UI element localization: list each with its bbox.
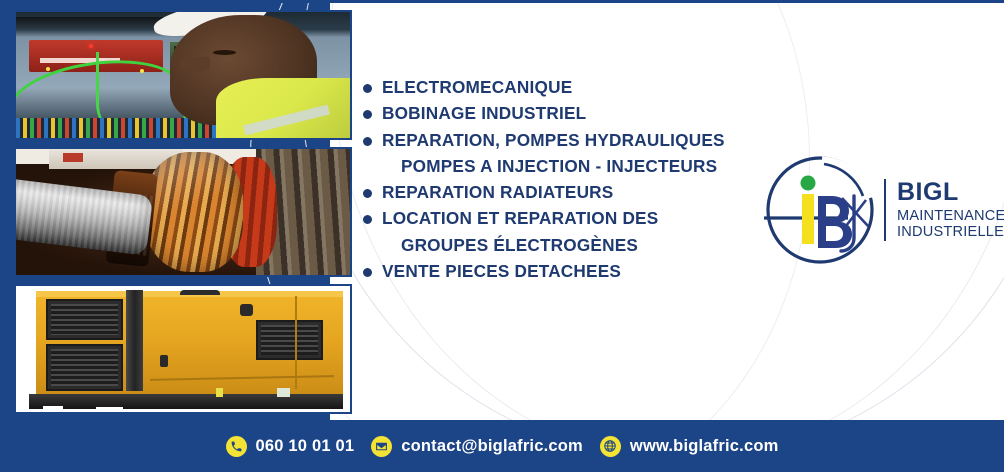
brand-text: BIGL MAINTENANCE INDUSTRIELLE [897,180,1004,241]
generator-set-photo [14,284,352,414]
service-item: ELECTROMECANIQUE [363,78,763,97]
service-item: LOCATION ET REPARATION DES [363,209,763,228]
bigl-circle-monogram-logo [762,152,878,268]
services-list: ELECTROMECANIQUE BOBINAGE INDUSTRIEL REP… [363,78,763,288]
electrical-panel-photo [14,10,352,140]
contact-email[interactable]: contact@biglafric.com [371,436,583,457]
website-url: www.biglafric.com [630,437,779,456]
service-item: VENTE PIECES DETACHEES [363,262,763,281]
service-label: REPARATION, POMPES HYDRAULIQUES [382,131,725,150]
contact-website[interactable]: www.biglafric.com [600,436,779,457]
bullet-icon [363,110,372,119]
bullet-icon [363,268,372,277]
phone-icon [226,436,247,457]
brand-tagline-line2: INDUSTRIELLE [897,224,1004,240]
photo-gallery [14,10,352,414]
service-item: BOBINAGE INDUSTRIEL [363,104,763,123]
contact-phone[interactable]: 060 10 01 01 [226,436,355,457]
brand-name: BIGL [897,180,1004,205]
top-edge-strip [0,0,1004,3]
brand-tagline-line1: MAINTENANCE [897,208,1004,224]
contact-bar: 060 10 01 01 contact@biglafric.com [0,420,1004,472]
bullet-icon [363,189,372,198]
service-label: VENTE PIECES DETACHEES [382,262,621,281]
service-item: REPARATION RADIATEURS [363,183,763,202]
service-label: REPARATION RADIATEURS [382,183,613,202]
advertisement-banner: ELECTROMECANIQUE BOBINAGE INDUSTRIEL REP… [0,0,1004,472]
bullet-icon [363,84,372,93]
phone-number: 060 10 01 01 [256,437,355,456]
service-label: ELECTROMECANIQUE [382,78,572,97]
logo-divider [884,179,886,241]
envelope-icon [371,436,392,457]
service-label: LOCATION ET REPARATION DES [382,209,658,228]
service-item: REPARATION, POMPES HYDRAULIQUES [363,131,763,150]
service-label-continuation: POMPES A INJECTION - INJECTEURS [363,157,763,176]
service-label-continuation: GROUPES ÉLECTROGÈNES [363,236,763,255]
globe-icon [600,436,621,457]
service-label: BOBINAGE INDUSTRIEL [382,104,586,123]
brand-logo: BIGL MAINTENANCE INDUSTRIELLE [762,152,1004,268]
motor-winding-photo [14,147,352,277]
bullet-icon [363,137,372,146]
email-address: contact@biglafric.com [401,437,583,456]
bullet-icon [363,215,372,224]
